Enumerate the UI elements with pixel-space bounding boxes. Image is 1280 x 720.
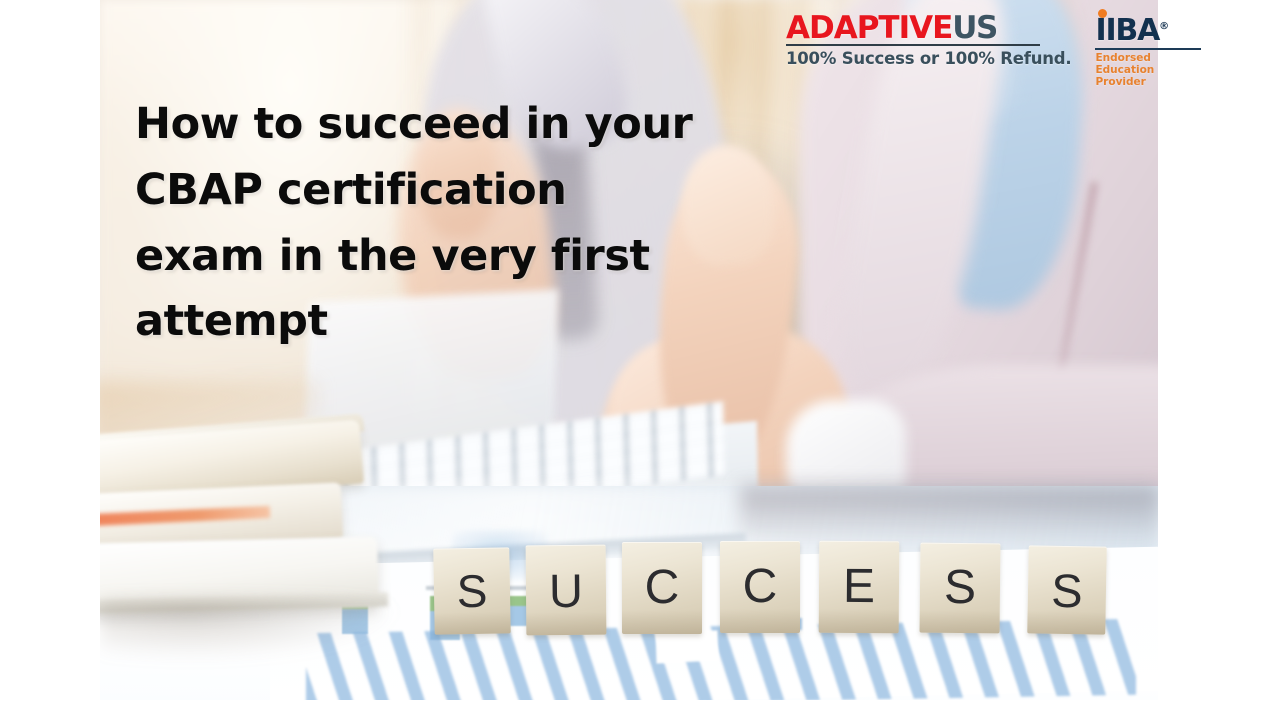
iiba-subtitle: Endorsed Education Provider (1095, 52, 1207, 89)
page-title: How to succeed in your CBAP certificatio… (135, 92, 755, 355)
registered-trademark-icon: ® (1159, 21, 1169, 32)
logo-tagline: 100% Success or 100% Refund. (786, 49, 1071, 68)
legend-tick-2 (426, 586, 470, 590)
brand-logo: ADAPTIVE US 100% Success or 100% Refund.… (786, 14, 1168, 78)
adaptiveus-wordmark: ADAPTIVE US (786, 14, 1071, 43)
book-stack-shadow (100, 600, 400, 660)
pie-chart-graphic (452, 530, 548, 580)
logo-row: ADAPTIVE US 100% Success or 100% Refund.… (786, 14, 1168, 89)
adaptiveus-logo: ADAPTIVE US 100% Success or 100% Refund. (786, 14, 1083, 68)
desk-shadow (740, 486, 1158, 546)
logo-adaptive-text: ADAPTIVE (786, 14, 952, 43)
mini-bar-3 (506, 596, 528, 626)
slide-canvas: SUCCESS How to succeed in your CBAP cert… (0, 0, 1280, 720)
legend-tick-3 (504, 586, 528, 590)
iiba-name: IIBA (1095, 13, 1159, 48)
iiba-wordmark: IIBA® (1095, 16, 1207, 46)
bar-chart-gap (655, 630, 718, 663)
bar-chart-stripes (306, 619, 1136, 700)
logo-us-text: US (952, 14, 997, 43)
iiba-logo: IIBA® Endorsed Education Provider (1095, 14, 1207, 89)
iiba-underline (1095, 48, 1201, 50)
